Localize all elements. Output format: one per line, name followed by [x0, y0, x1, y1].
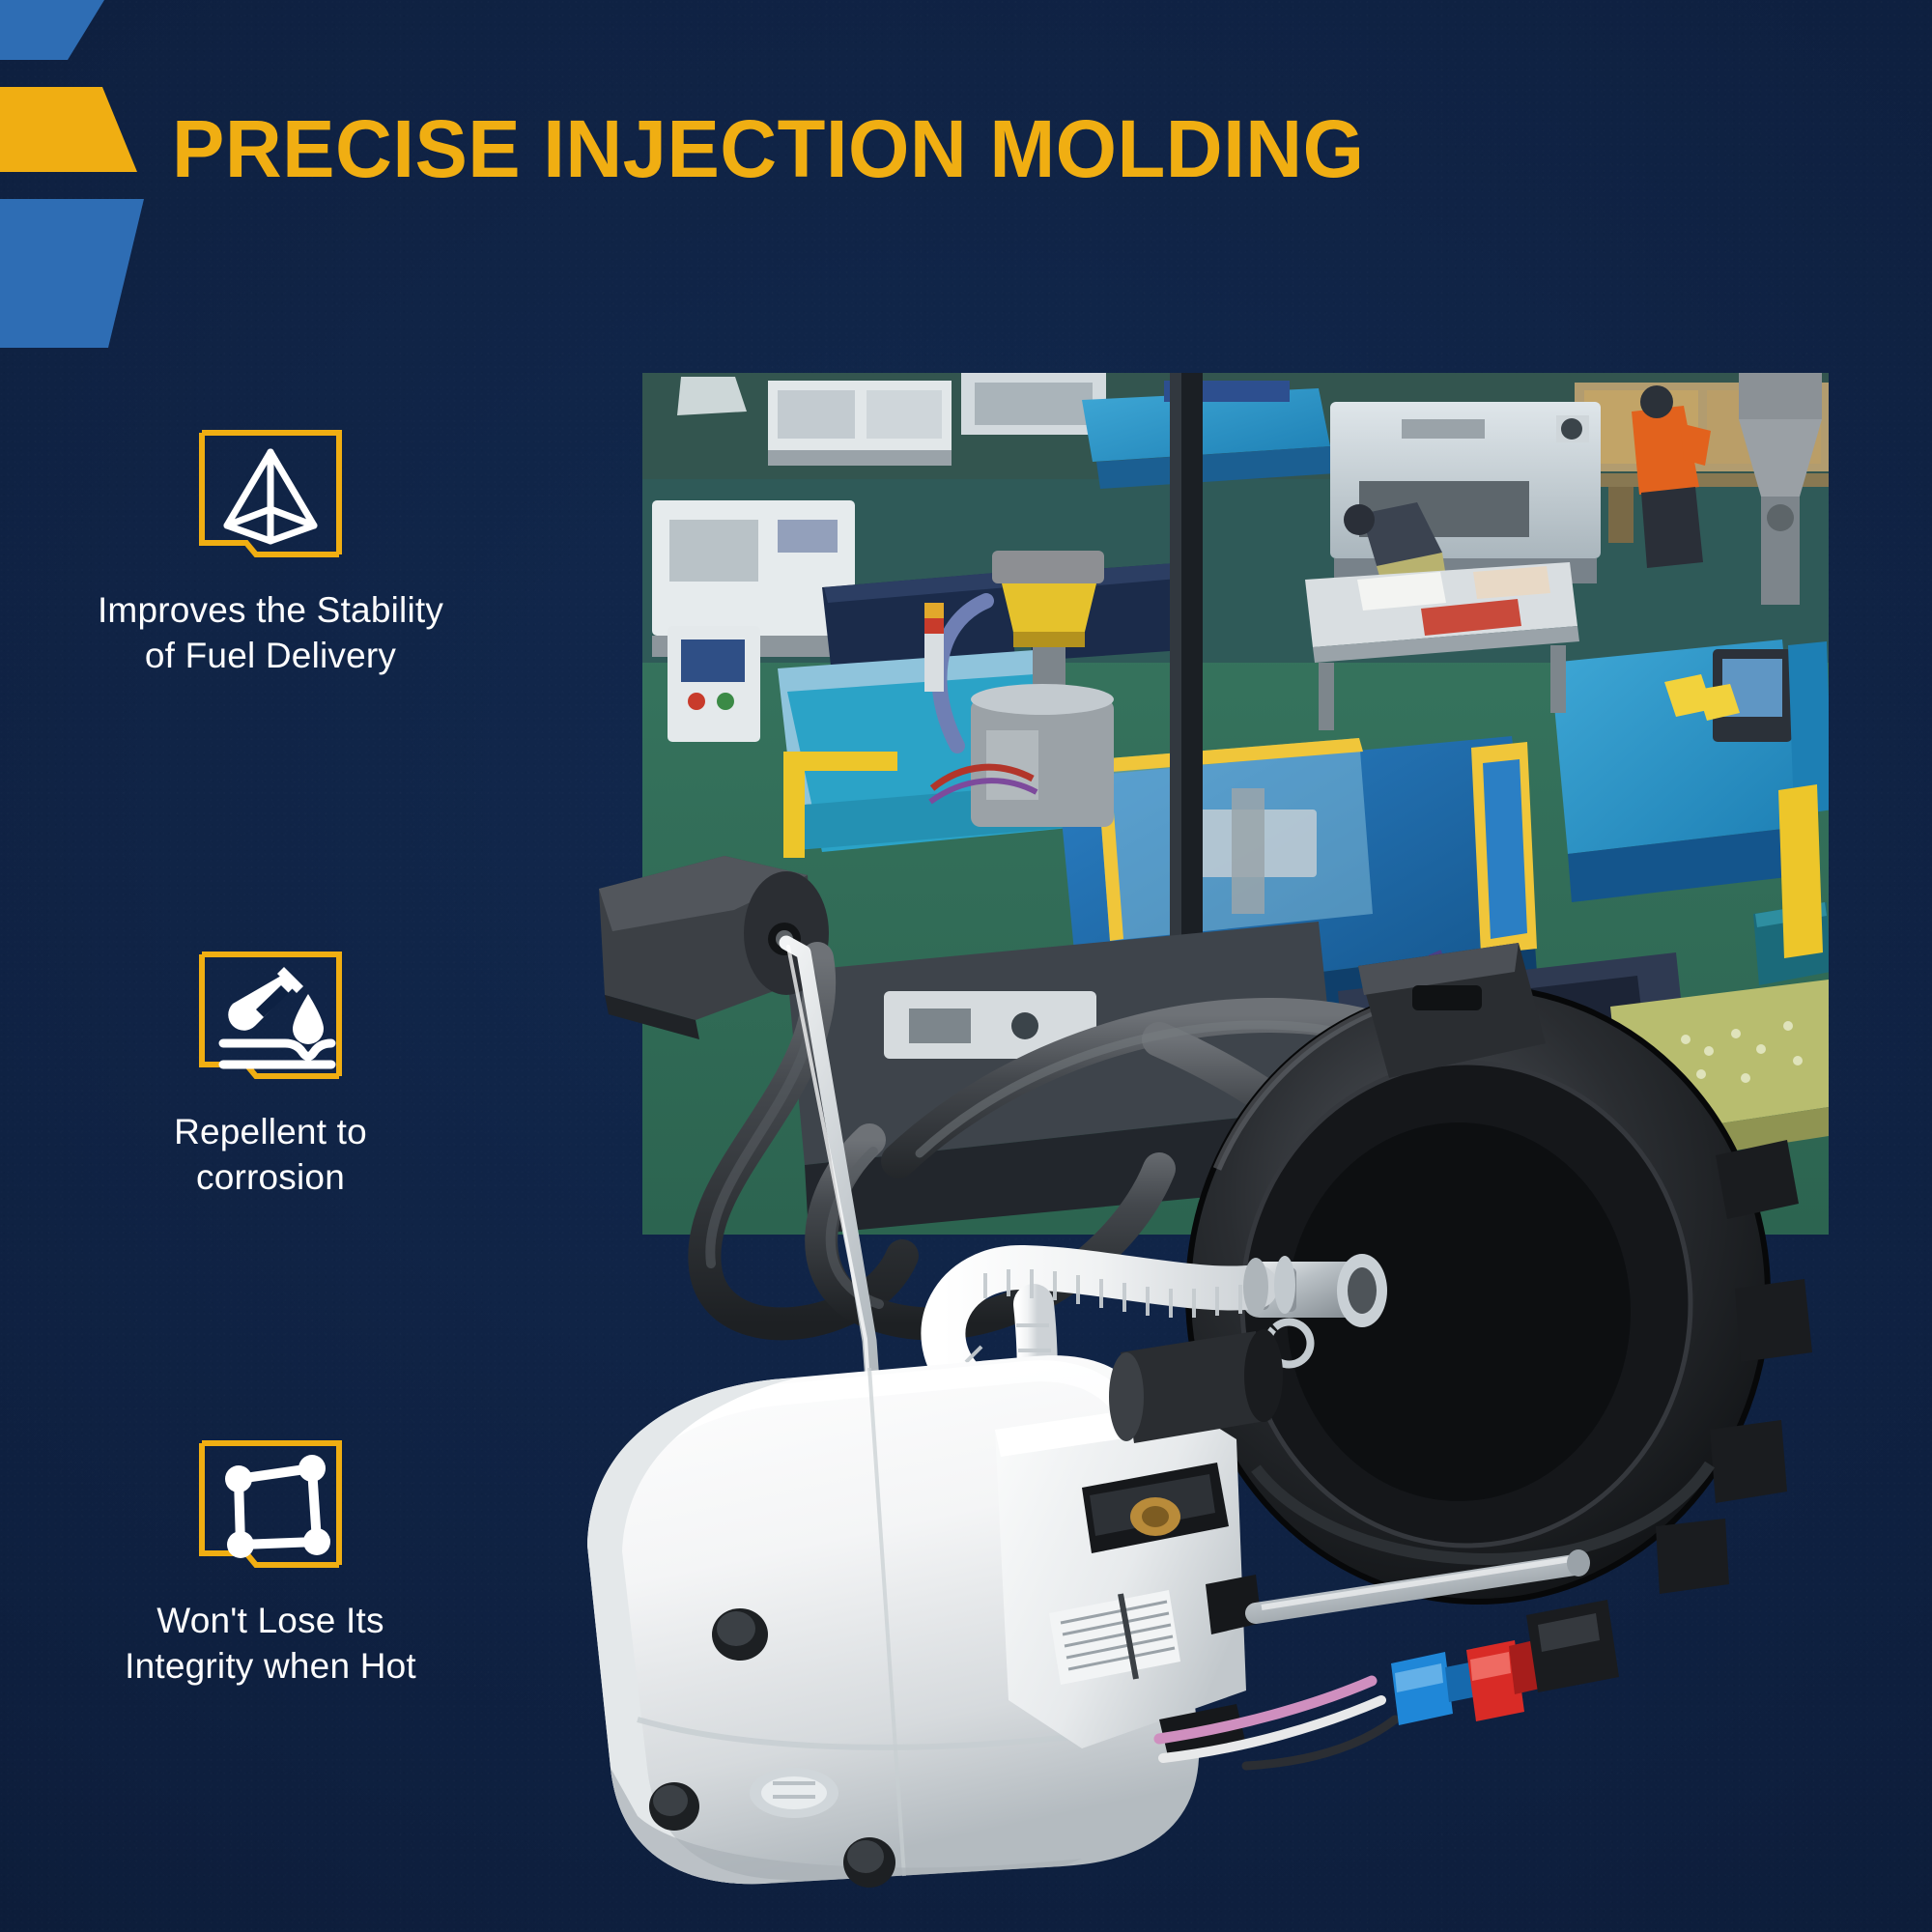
pyramid-wireframe-icon — [188, 417, 353, 562]
infographic-page: PRECISE INJECTION MOLDING Improves the S… — [0, 0, 1932, 1932]
corrosion-repellent-icon-svg — [188, 939, 353, 1084]
feature-label: Won't Lose Its Integrity when Hot — [0, 1598, 541, 1690]
feature-item-heat-integrity: Won't Lose Its Integrity when Hot — [0, 1428, 541, 1690]
corner-band-blue-bottom — [0, 199, 144, 348]
corrosion-repellent-icon — [188, 939, 353, 1084]
blue-connector — [1391, 1652, 1478, 1725]
page-title: PRECISE INJECTION MOLDING — [172, 108, 1859, 189]
corner-band-yellow — [0, 87, 137, 172]
corner-band-blue-top — [0, 0, 104, 60]
red-connector — [1466, 1640, 1540, 1721]
feature-label: Improves the Stability of Fuel Delivery — [0, 587, 541, 679]
feature-label: Repellent to corrosion — [0, 1109, 541, 1201]
feature-item-corrosion: Repellent to corrosion — [0, 939, 541, 1201]
black-connector — [1526, 1600, 1619, 1692]
shape-integrity-icon — [188, 1428, 353, 1573]
feature-item-stability: Improves the Stability of Fuel Delivery — [0, 417, 541, 679]
shape-integrity-icon-svg — [188, 1428, 353, 1573]
surface-line-top — [223, 1043, 331, 1057]
fuel-pump-module-assembly — [580, 850, 1893, 1893]
droplet-glyph — [293, 994, 324, 1044]
fuel-pump-module-svg — [580, 850, 1893, 1893]
test-tube-glyph — [228, 967, 303, 1031]
pyramid-wireframe-icon-svg — [188, 417, 353, 562]
